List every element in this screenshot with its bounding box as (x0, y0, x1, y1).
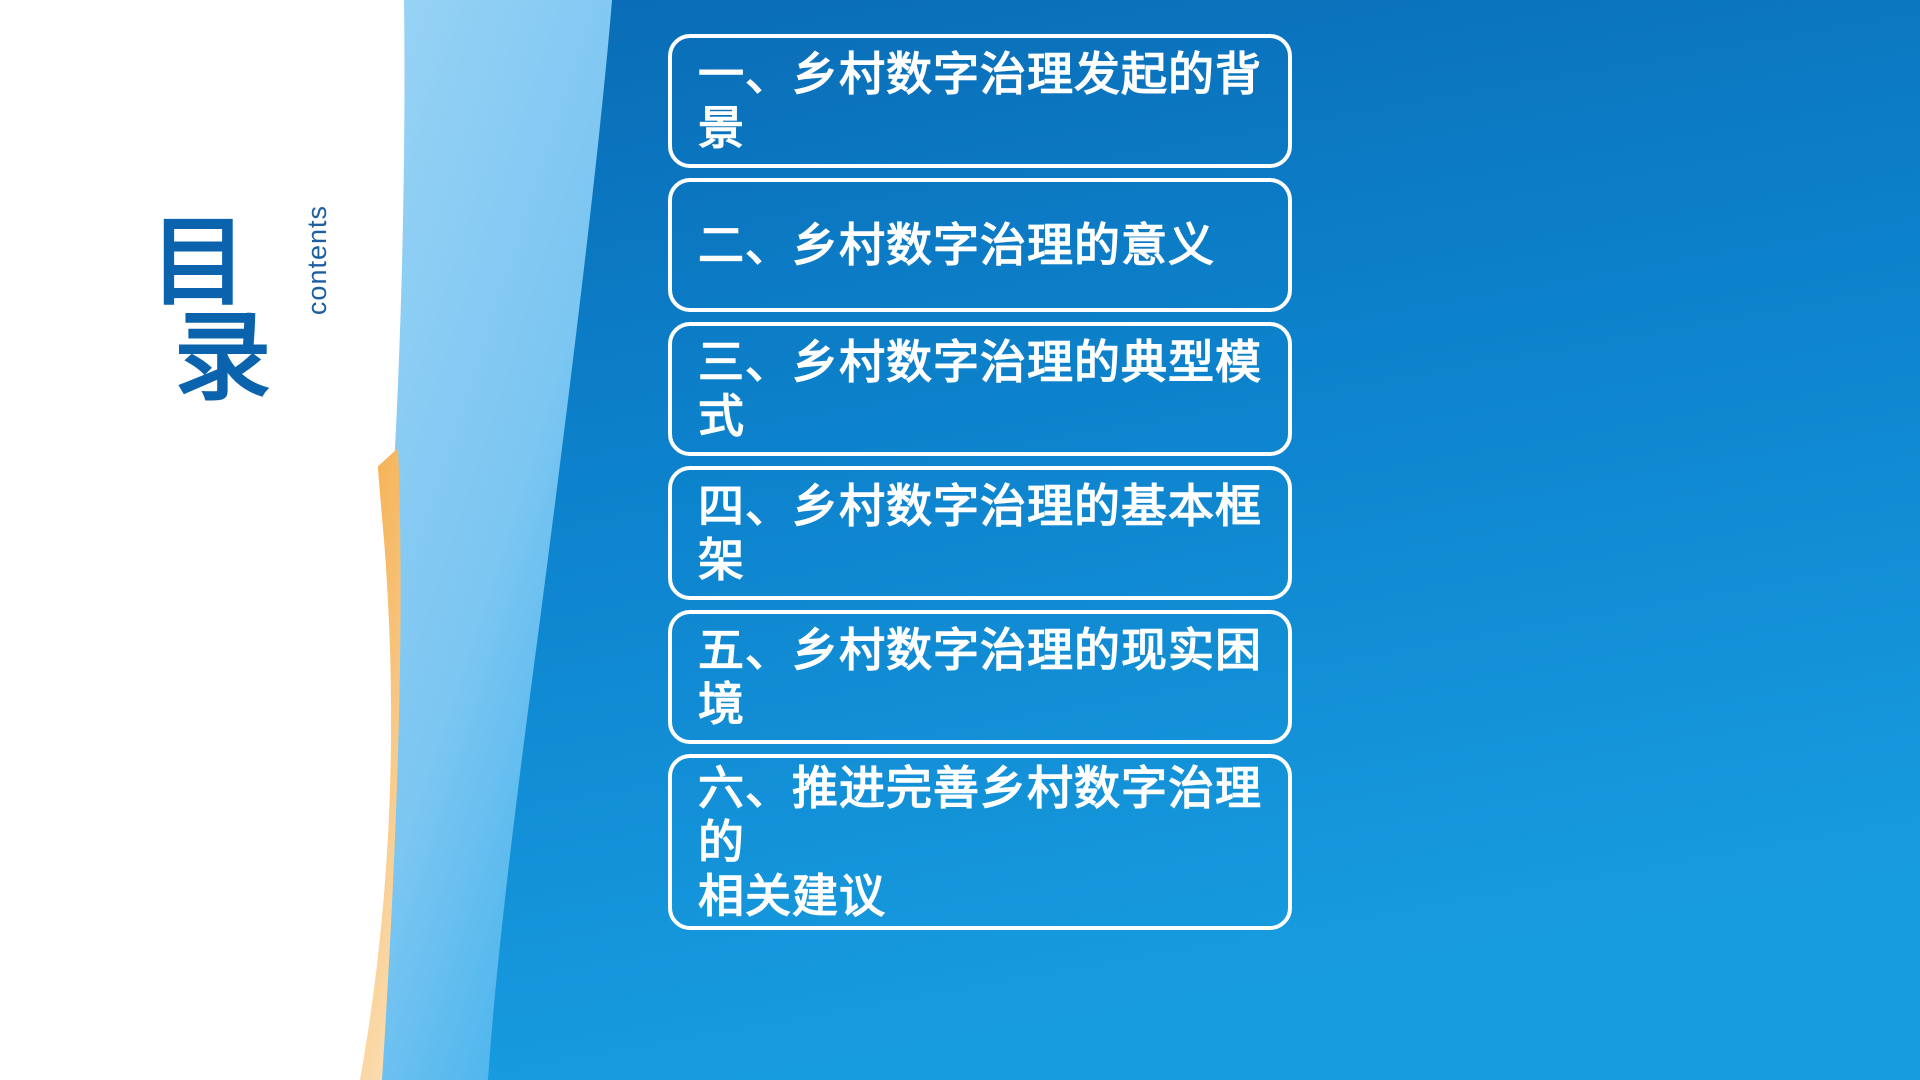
contents-item-4-label: 四、乡村数字治理的基本框架 (698, 479, 1262, 588)
presentation-slide: 目 录 contents 一、乡村数字治理发起的背景 二、乡村数字治理的意义 三… (0, 0, 1920, 1080)
page-title-chinese: 目 录 (150, 215, 290, 405)
contents-item-5[interactable]: 五、乡村数字治理的现实困境 (668, 610, 1292, 744)
contents-item-3[interactable]: 三、乡村数字治理的典型模式 (668, 322, 1292, 456)
contents-item-1[interactable]: 一、乡村数字治理发起的背景 (668, 34, 1292, 168)
page-title-char-2: 录 (150, 310, 290, 405)
page-title-english: contents (302, 205, 333, 315)
contents-item-5-label: 五、乡村数字治理的现实困境 (698, 623, 1262, 732)
contents-list: 一、乡村数字治理发起的背景 二、乡村数字治理的意义 三、乡村数字治理的典型模式 … (668, 34, 1292, 1054)
page-title-char-1: 目 (150, 215, 290, 310)
contents-item-6-label: 六、推进完善乡村数字治理的 相关建议 (698, 761, 1262, 924)
contents-item-3-label: 三、乡村数字治理的典型模式 (698, 335, 1262, 444)
contents-item-2[interactable]: 二、乡村数字治理的意义 (668, 178, 1292, 312)
contents-item-2-label: 二、乡村数字治理的意义 (698, 218, 1215, 272)
white-foreground-curve (0, 0, 391, 1080)
contents-item-4[interactable]: 四、乡村数字治理的基本框架 (668, 466, 1292, 600)
slide-title-group: 目 录 contents (150, 215, 420, 465)
contents-item-1-label: 一、乡村数字治理发起的背景 (698, 47, 1262, 156)
contents-item-6[interactable]: 六、推进完善乡村数字治理的 相关建议 (668, 754, 1292, 930)
